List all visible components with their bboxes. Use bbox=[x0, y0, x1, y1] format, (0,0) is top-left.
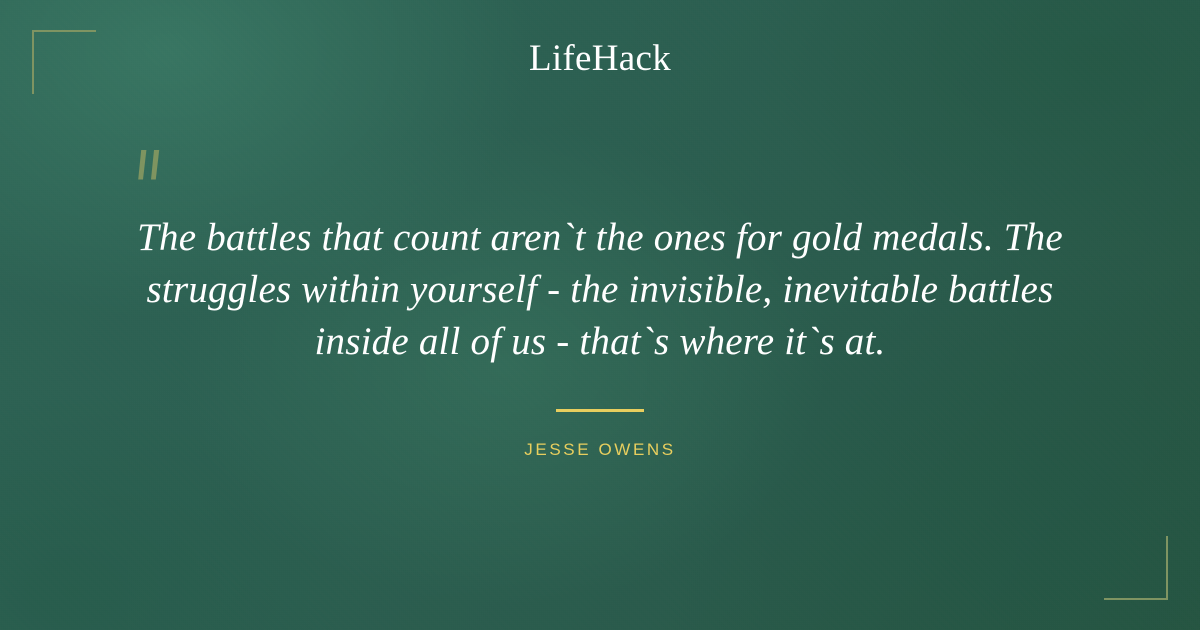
corner-bracket-bottom-right-icon bbox=[1104, 536, 1168, 600]
double-quote-icon bbox=[128, 146, 172, 190]
quote-text: The battles that count aren`t the ones f… bbox=[100, 212, 1100, 368]
quote-line: struggles within yourself - the invisibl… bbox=[100, 264, 1100, 316]
quote-line: The battles that count aren`t the ones f… bbox=[100, 212, 1100, 264]
quote-line: inside all of us - that`s where it`s at. bbox=[100, 316, 1100, 368]
quote-card: LifeHack The battles that count aren`t t… bbox=[0, 0, 1200, 630]
author-divider bbox=[556, 409, 644, 412]
brand-logo[interactable]: LifeHack bbox=[0, 40, 1200, 77]
quote-author: JESSE OWENS bbox=[0, 440, 1200, 460]
